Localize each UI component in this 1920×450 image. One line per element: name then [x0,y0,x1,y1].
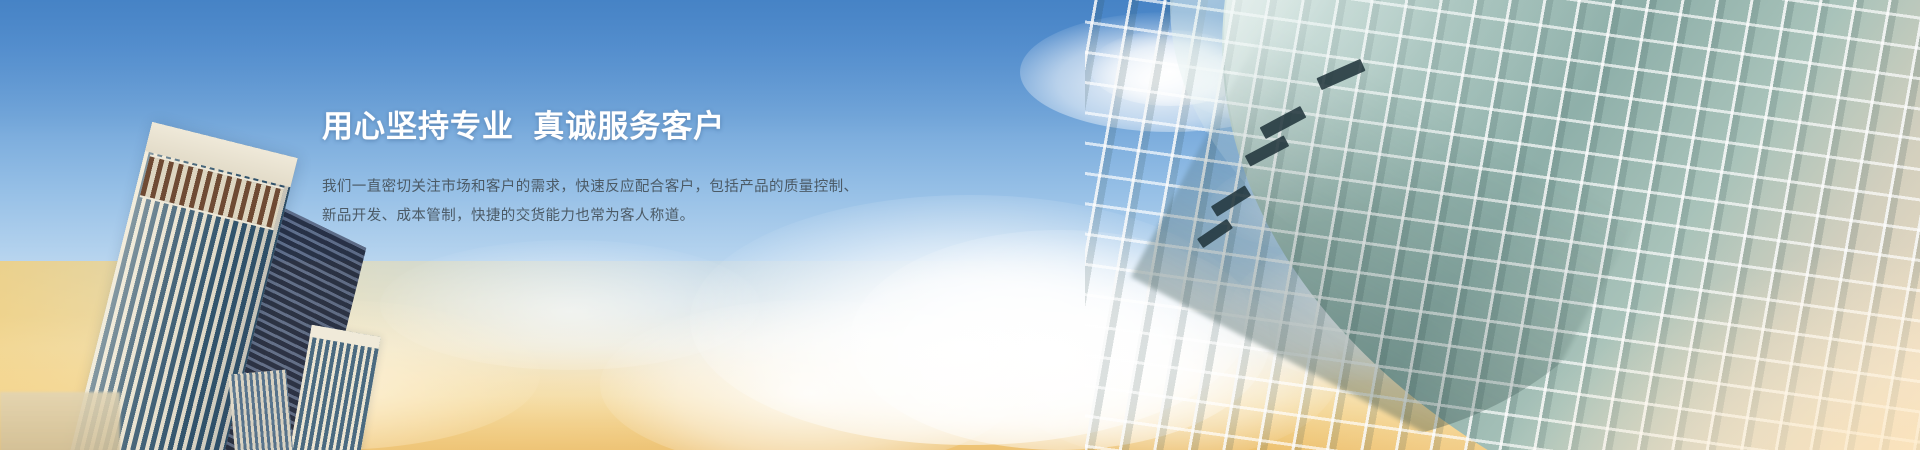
banner-subtext-line-1: 我们一直密切关注市场和客户的需求，快速反应配合客户，包括产品的质量控制、 [322,173,942,202]
banner-subtext-line-2: 新品开发、成本管制，快捷的交货能力也常为客人称道。 [322,202,942,231]
small-building-b [228,370,294,450]
banner-text-block: 用心坚持专业 真诚服务客户 我们一直密切关注市场和客户的需求，快速反应配合客户，… [322,108,942,231]
hero-banner: 用心坚持专业 真诚服务客户 我们一直密切关注市场和客户的需求，快速反应配合客户，… [0,0,1920,450]
curved-glass-skyscraper [1085,0,1920,450]
banner-headline: 用心坚持专业 真诚服务客户 [322,108,942,147]
banner-subtext: 我们一直密切关注市场和客户的需求，快速反应配合客户，包括产品的质量控制、 新品开… [322,173,942,231]
small-building-c [0,392,120,450]
